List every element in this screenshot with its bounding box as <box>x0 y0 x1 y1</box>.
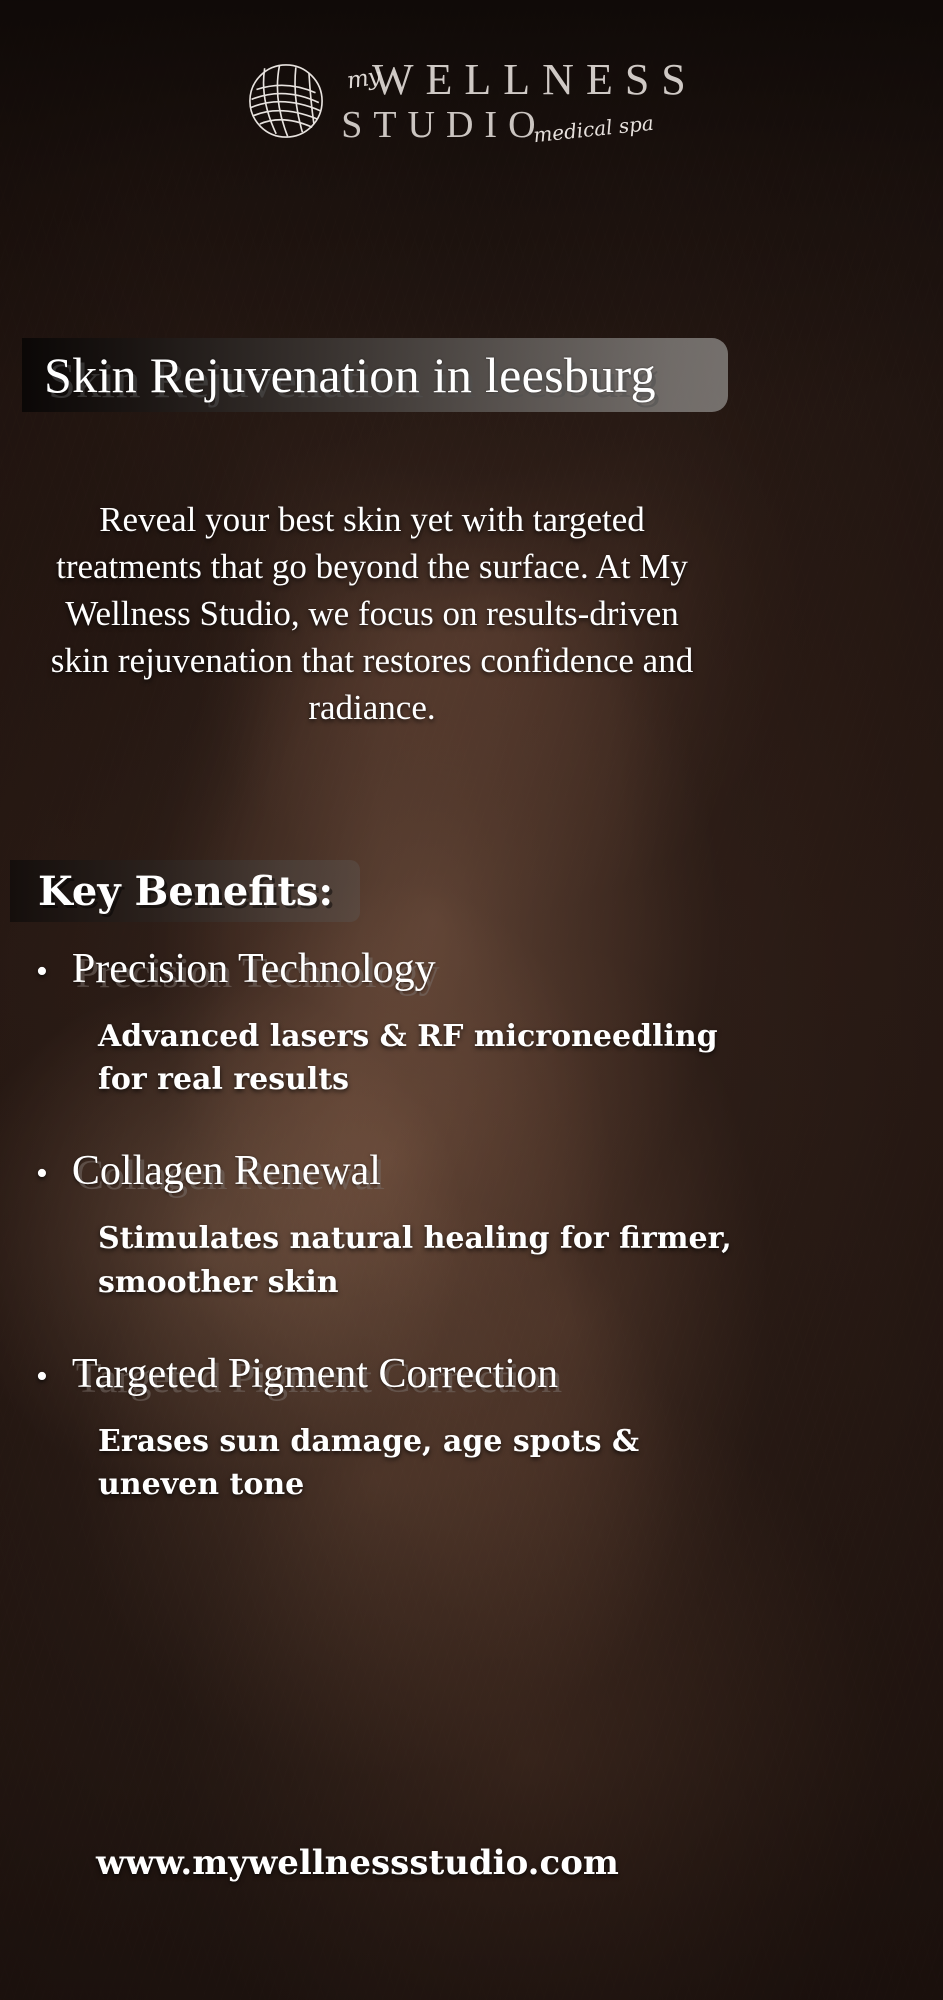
striped-globe-icon <box>245 60 327 142</box>
brand-script-suffix: medical spa <box>532 111 655 148</box>
bullet-icon: • <box>36 1360 48 1394</box>
benefit-title: Targeted Pigment Correction <box>72 1350 558 1398</box>
page-title: Skin Rejuvenation in leesburg <box>22 346 656 404</box>
benefit-detail: Stimulates natural healing for firmer, s… <box>0 1217 738 1303</box>
website-url[interactable]: www.mywellnessstudio.com <box>0 1843 943 1883</box>
benefit-heading-row: • Targeted Pigment Correction <box>0 1350 943 1398</box>
benefit-title: Collagen Renewal <box>72 1147 381 1195</box>
benefit-detail: Erases sun damage, age spots & uneven to… <box>0 1420 738 1506</box>
benefit-title: Precision Technology <box>72 945 436 993</box>
key-benefits-banner: Key Benefits: <box>10 860 360 922</box>
brand-line-two: STUDIO medical spa <box>341 106 698 144</box>
brand-name-wellness: WELLNESS <box>372 58 698 102</box>
benefit-heading-row: • Collagen Renewal <box>0 1147 943 1195</box>
key-benefits-heading: Key Benefits: <box>10 868 333 915</box>
headline-banner: Skin Rejuvenation in leesburg <box>22 338 728 412</box>
brand-name-studio: STUDIO <box>341 106 546 144</box>
list-item: • Precision Technology Advanced lasers &… <box>0 945 943 1101</box>
brand-line-one: my WELLNESS <box>341 58 698 102</box>
brand-script-prefix: my <box>345 64 381 95</box>
benefits-list: • Precision Technology Advanced lasers &… <box>0 945 943 1552</box>
brand-wordmark: my WELLNESS STUDIO medical spa <box>341 58 698 144</box>
infographic-poster: my WELLNESS STUDIO medical spa Skin Reju… <box>0 0 943 2000</box>
brand-logo: my WELLNESS STUDIO medical spa <box>0 58 943 144</box>
list-item: • Collagen Renewal Stimulates natural he… <box>0 1147 943 1303</box>
bullet-icon: • <box>36 955 48 989</box>
list-item: • Targeted Pigment Correction Erases sun… <box>0 1350 943 1506</box>
benefit-heading-row: • Precision Technology <box>0 945 943 993</box>
intro-paragraph: Reveal your best skin yet with targeted … <box>34 497 710 731</box>
bullet-icon: • <box>36 1157 48 1191</box>
benefit-detail: Advanced lasers & RF microneedling for r… <box>0 1015 738 1101</box>
